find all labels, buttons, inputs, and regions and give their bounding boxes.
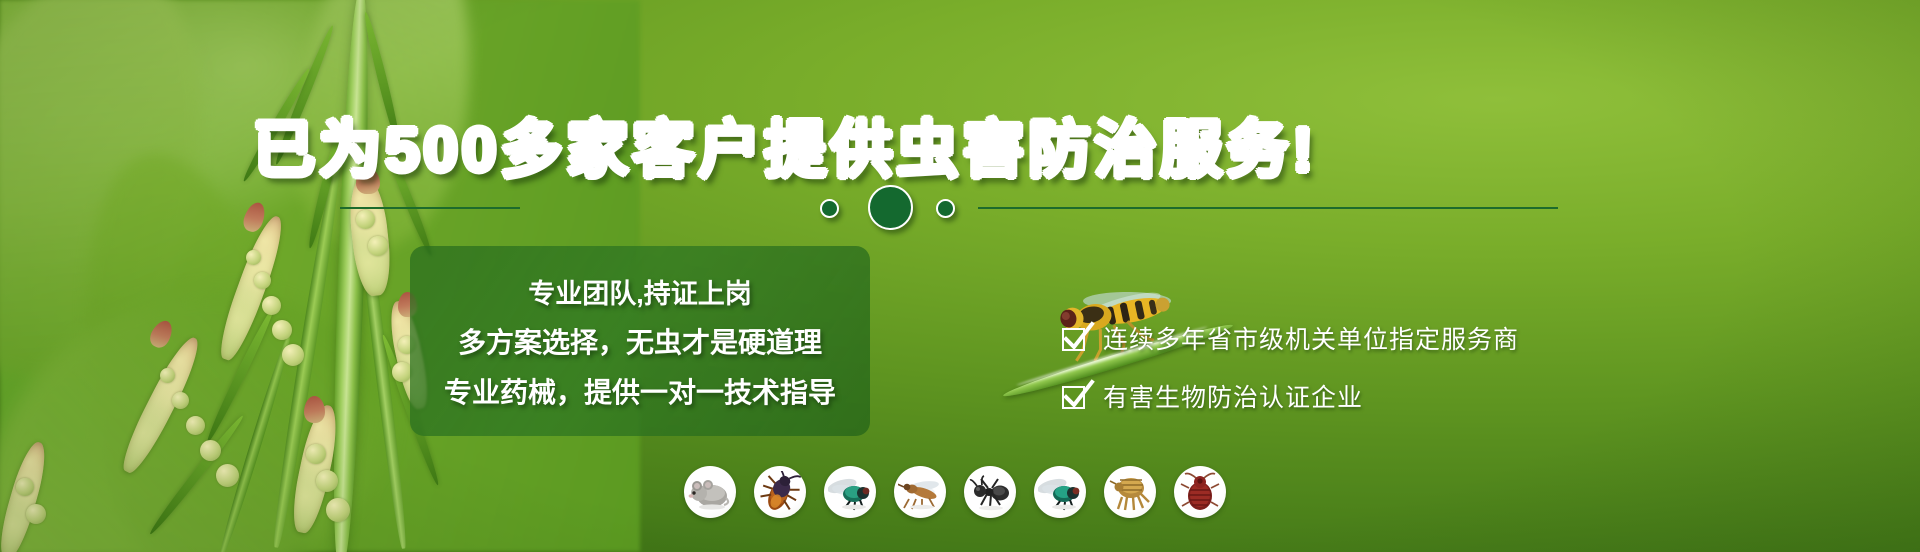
divider-dot-small-right [936,199,955,218]
divider [330,207,1562,209]
divider-dots [820,185,970,231]
credential-item: 有害生物防治认证企业 [1062,378,1519,414]
divider-rule-right [978,207,1558,209]
feature-line-1: 专业团队,持证上岗 [528,272,752,311]
credentials-list: 连续多年省市级机关单位指定服务商 有害生物防治认证企业 [1062,320,1519,414]
credential-label: 连续多年省市级机关单位指定服务商 [1103,320,1519,356]
checkbox-checked-icon [1062,325,1089,352]
fly-icon[interactable] [824,466,876,518]
feature-panel-text: 专业团队,持证上岗 多方案选择，无虫才是硬道理 专业药械，提供一对一技术指导 [410,246,870,436]
pest-icon-row [684,466,1226,518]
divider-rule-left [340,207,520,209]
divider-dot-small-left [820,199,839,218]
page-title: 已为500多家客户提供虫害防治服务! [0,120,1570,182]
feature-line-3: 专业药械，提供一对一技术指导 [444,371,836,411]
checkbox-checked-icon [1062,383,1089,410]
promo-banner: 已为500多家客户提供虫害防治服务! 专业团队,持证上岗 多方案选择，无虫才是硬… [0,0,1920,552]
credential-label: 有害生物防治认证企业 [1103,378,1363,414]
mosquito-icon[interactable] [894,466,946,518]
flea-icon[interactable] [1104,466,1156,518]
cockroach-icon[interactable] [754,466,806,518]
ant-icon[interactable] [964,466,1016,518]
blowfly-icon[interactable] [1034,466,1086,518]
mouse-icon[interactable] [684,466,736,518]
divider-dot-large [868,185,913,230]
bedbug-icon[interactable] [1174,466,1226,518]
credential-item: 连续多年省市级机关单位指定服务商 [1062,320,1519,356]
feature-line-2: 多方案选择，无虫才是硬道理 [458,321,822,361]
